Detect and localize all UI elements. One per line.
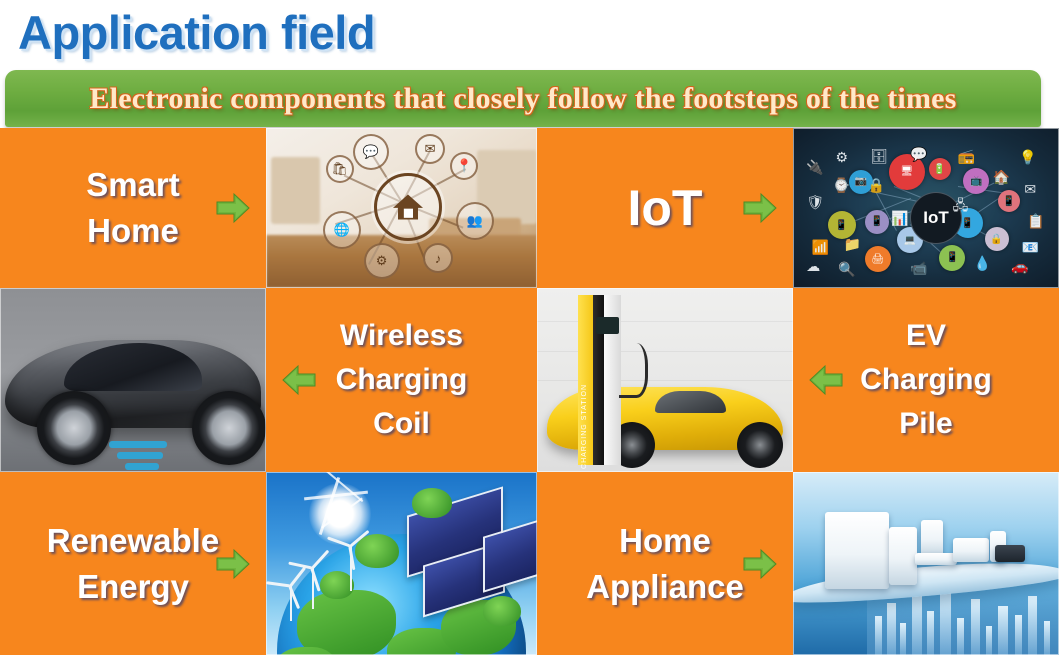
bar-chart-icon: 📊 xyxy=(891,211,908,225)
lock-icon: 🔒 xyxy=(867,178,884,192)
cell-ev-charging-pile[interactable]: EV Charging Pile xyxy=(793,288,1059,472)
cell-smart-home[interactable]: Smart Home xyxy=(0,128,266,288)
page-title: Application field xyxy=(18,2,375,64)
people-icon: 👥 xyxy=(456,202,494,240)
cloud-icon: ☁ xyxy=(806,259,820,273)
lightbulb-icon: 💡 xyxy=(1019,150,1036,164)
dishwasher-icon xyxy=(825,512,889,589)
application-grid: Smart Home xyxy=(0,128,1059,655)
arrow-right-icon xyxy=(741,547,779,581)
cell-renewable-energy-image xyxy=(266,472,537,655)
gears-icon: ⚙ xyxy=(836,150,849,164)
charging-station-label: CHARGING STATION xyxy=(581,384,594,469)
globe-icon: 🌐 xyxy=(323,211,361,249)
gear-icon: ⚙ xyxy=(364,243,400,279)
router-icon: 📱 xyxy=(939,245,965,271)
iot-core-text: IoT xyxy=(923,208,949,228)
chat-icon: 💬 xyxy=(910,147,927,161)
envelope-icon: ✉ xyxy=(415,134,445,164)
arrow-right-icon xyxy=(214,191,252,225)
printer-icon: 🖨 xyxy=(865,246,891,272)
arrow-right-icon xyxy=(741,191,779,225)
plug-icon: 🔌 xyxy=(806,160,823,174)
server-icon: 🗄 xyxy=(870,149,888,163)
cell-iot-image: 🖥 📷 🔋 📺 📱 📱 📱 💻 📱 🖨 📱 🔒 IoT 🔌 ⚙ xyxy=(793,128,1059,288)
arrow-left-icon xyxy=(280,363,318,397)
car-icon: 🚗 xyxy=(1011,259,1028,273)
water-heater-icon xyxy=(889,527,917,586)
battery-icon: 🔋 xyxy=(929,158,951,180)
oven-icon xyxy=(953,538,989,562)
arrow-left-icon xyxy=(807,363,845,397)
cell-wireless-charging-coil[interactable]: Wireless Charging Coil xyxy=(266,288,537,472)
microwave-icon xyxy=(995,545,1025,561)
cell-label: Home Appliance xyxy=(574,518,756,610)
house-icon xyxy=(374,173,442,241)
banner: Electronic components that closely follo… xyxy=(5,70,1041,127)
graduation-icon: 📧 xyxy=(1022,240,1039,254)
cell-label: Renewable Energy xyxy=(35,518,231,610)
cell-smart-home-image: 💬 ✉ 📍 👥 ♪ ⚙ 🌐 🛍 xyxy=(266,128,537,288)
cell-label: Smart Home xyxy=(74,162,192,254)
cell-home-appliance-image xyxy=(793,472,1059,655)
lock-icon: 🔒 xyxy=(985,227,1009,251)
cell-ev-charging-image: CHARGING STATION xyxy=(537,288,793,472)
arrow-right-icon xyxy=(214,547,252,581)
clipboard-icon: 📋 xyxy=(1027,214,1044,228)
wifi-icon: 📶 xyxy=(812,240,829,254)
tablet-icon: 📱 xyxy=(865,210,889,234)
microwave-icon: 📻 xyxy=(958,149,975,163)
banner-text: Electronic components that closely follo… xyxy=(89,82,956,116)
cell-renewable-energy[interactable]: Renewable Energy xyxy=(0,472,266,655)
chat-icon: 💬 xyxy=(353,134,389,170)
smartphone-icon: 📱 xyxy=(828,211,856,239)
application-field-slide: Application field Electronic components … xyxy=(0,0,1059,655)
router-icon: 🖧 xyxy=(953,198,969,212)
phone-icon: 📱 xyxy=(998,190,1020,212)
shield-icon: 🛡 xyxy=(806,195,824,209)
cell-label: IoT xyxy=(616,181,715,235)
envelope-icon: ✉ xyxy=(1024,182,1036,196)
folder-icon: 📁 xyxy=(844,237,861,251)
cell-wireless-charging-image xyxy=(0,288,266,472)
cell-home-appliance[interactable]: Home Appliance xyxy=(537,472,793,655)
range-hood-icon xyxy=(921,520,943,557)
location-pin-icon: 📍 xyxy=(450,152,478,180)
house-icon: 🏠 xyxy=(993,170,1010,184)
smartwatch-icon: ⌚ xyxy=(833,178,850,192)
cell-label: EV Charging Pile xyxy=(848,314,1004,446)
cell-iot[interactable]: IoT xyxy=(537,128,793,288)
water-drop-icon: 💧 xyxy=(974,256,991,270)
video-icon: 📹 xyxy=(910,261,927,275)
cooktop-icon xyxy=(915,553,957,566)
search-icon: 🔍 xyxy=(838,262,855,276)
shopping-bag-icon: 🛍 xyxy=(326,155,354,183)
cell-label: Wireless Charging Coil xyxy=(324,314,480,446)
